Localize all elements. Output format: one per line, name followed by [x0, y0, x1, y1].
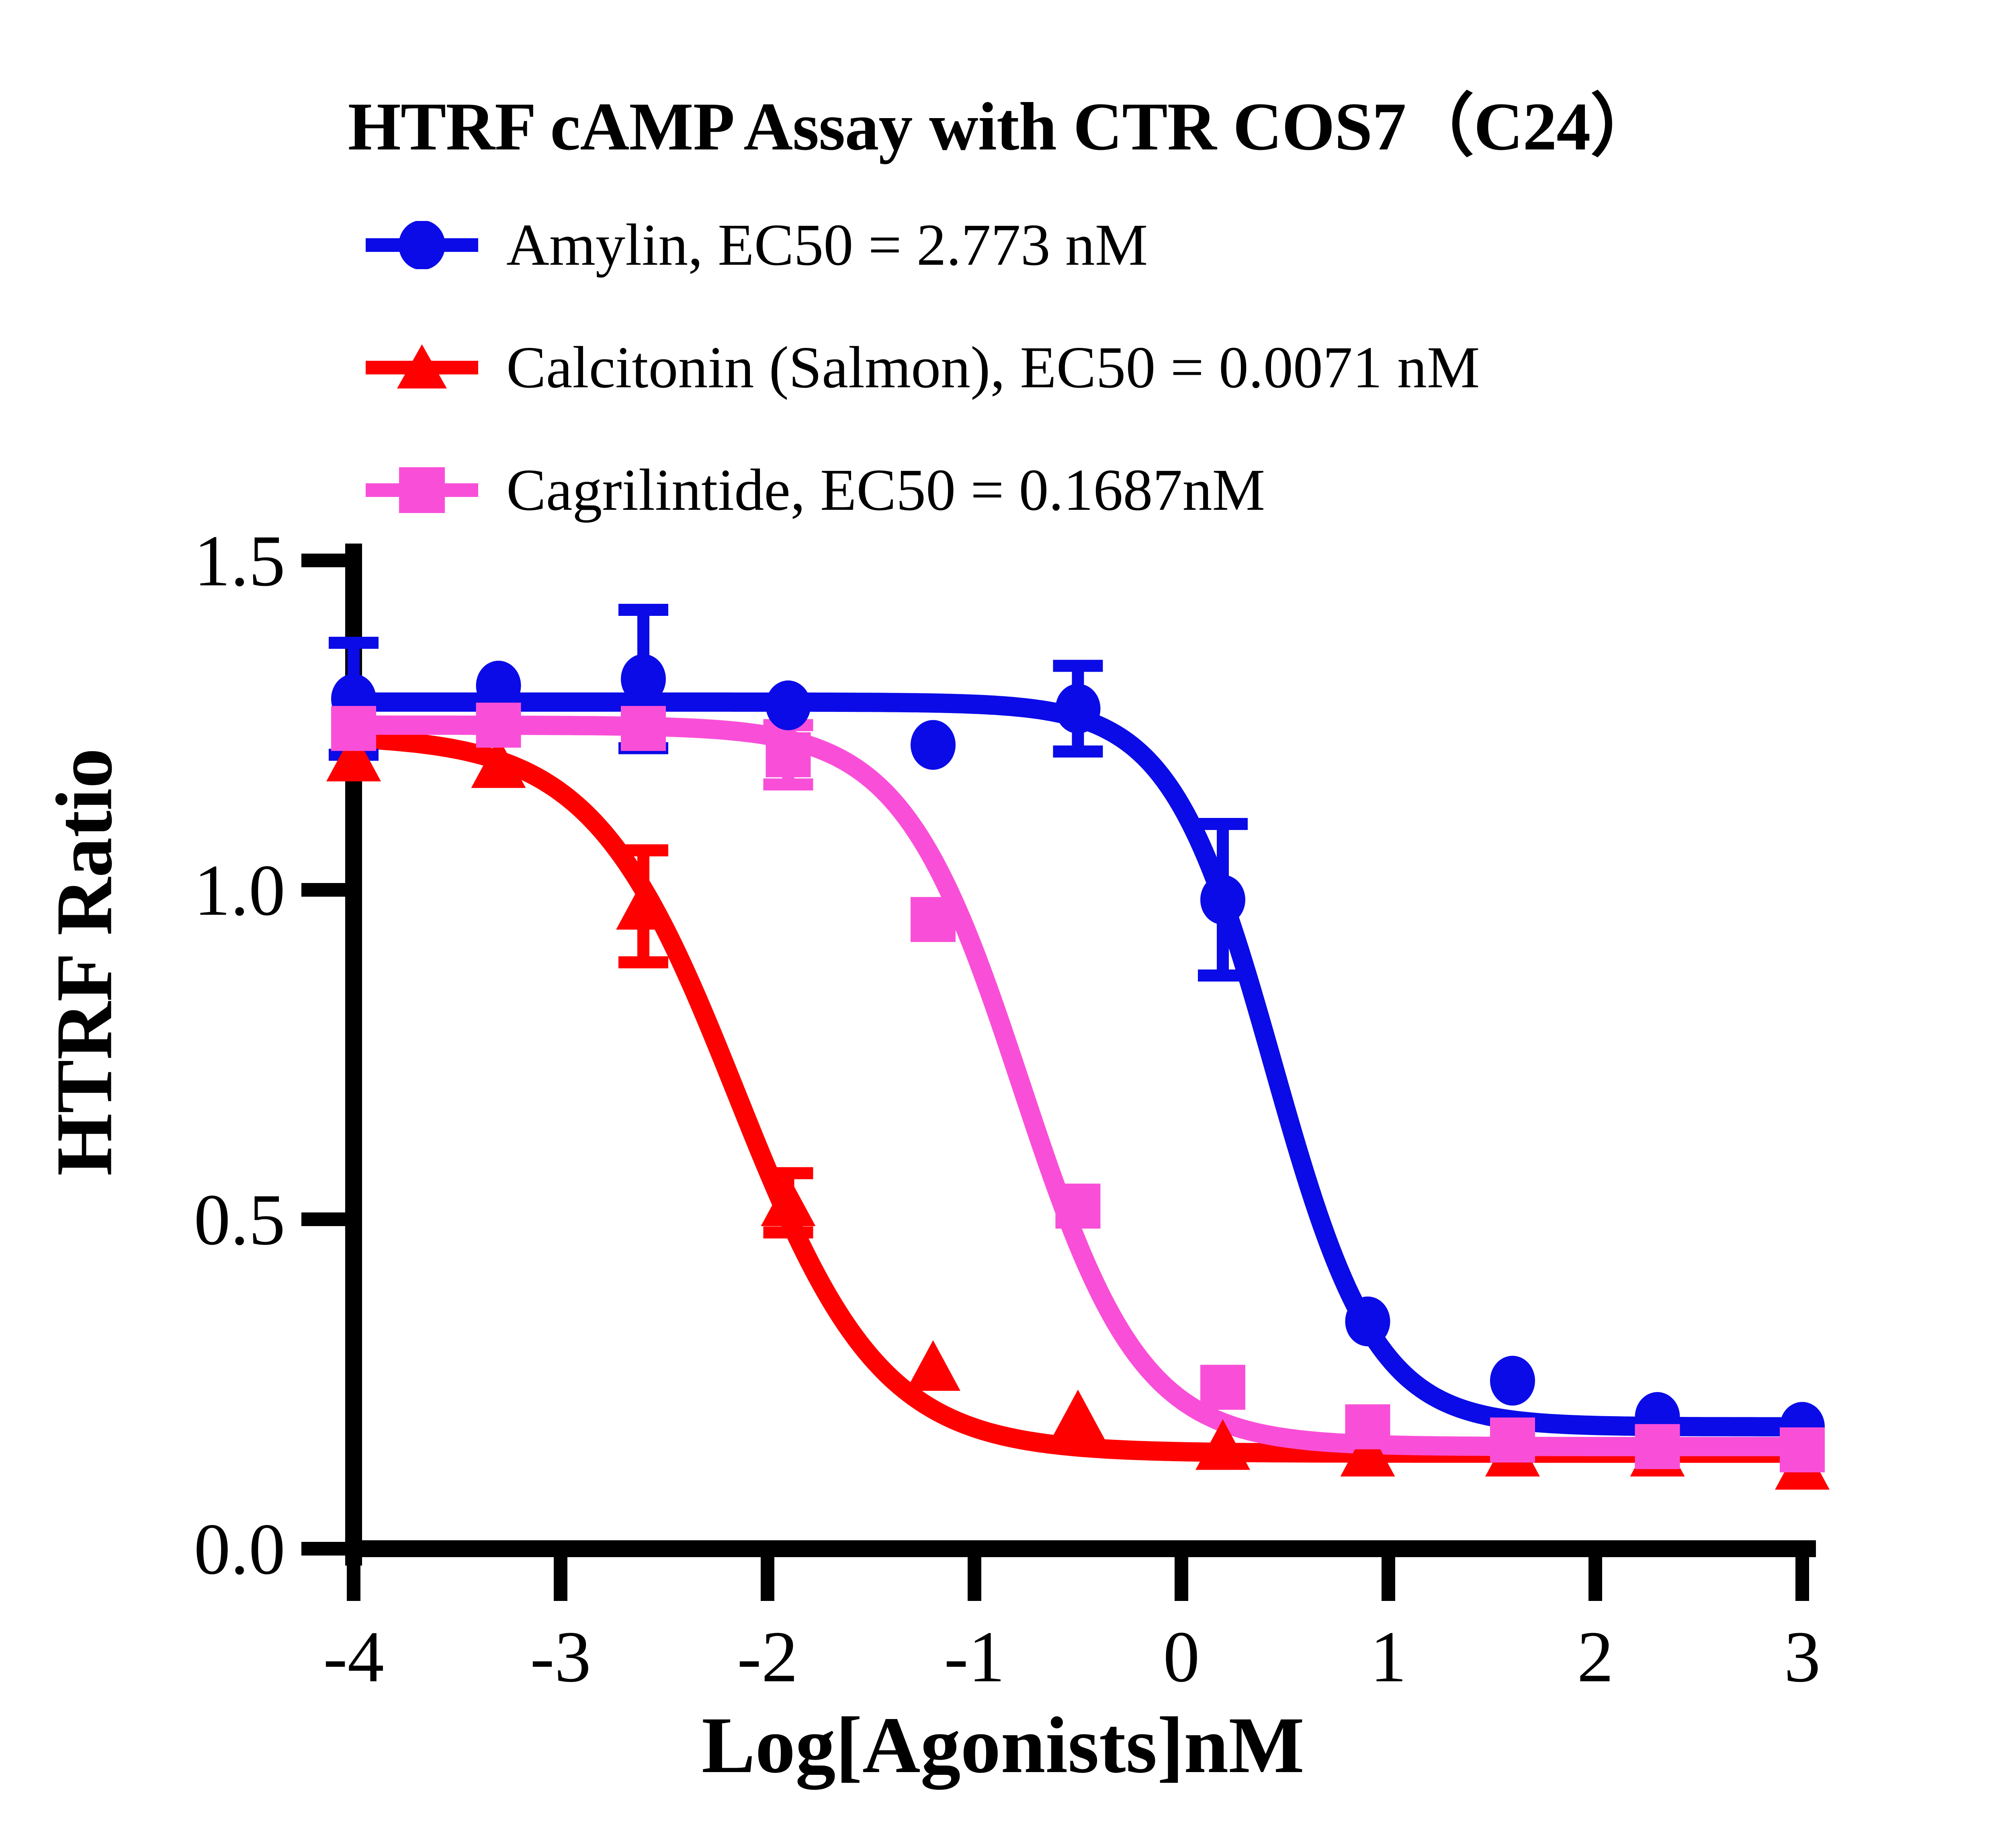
y-tick-label: 1.5	[194, 521, 286, 601]
data-point	[1490, 1356, 1535, 1406]
x-tick-label: 0	[1163, 1617, 1200, 1697]
x-tick-label: 1	[1370, 1617, 1407, 1697]
data-point	[1056, 684, 1101, 734]
data-point	[1635, 1424, 1680, 1469]
data-point	[766, 732, 811, 777]
data-point	[331, 706, 376, 751]
x-tick-label: 2	[1577, 1617, 1614, 1697]
data-point	[906, 1340, 960, 1391]
x-tick-label: -3	[530, 1617, 591, 1697]
data-point	[1780, 1427, 1825, 1472]
y-axis-label: HTRF Ratio	[39, 661, 131, 1263]
data-point	[621, 654, 666, 704]
curve-cagrilintide	[354, 725, 1802, 1447]
data-point	[1056, 1184, 1101, 1229]
data-point	[1345, 1296, 1390, 1346]
plot-area: 0.00.51.01.5-4-3-2-10123	[0, 0, 2006, 1848]
data-point	[1200, 875, 1245, 925]
data-point	[1490, 1417, 1535, 1462]
data-point	[1200, 1365, 1245, 1410]
data-point	[766, 681, 811, 730]
data-point	[1345, 1404, 1390, 1449]
data-point	[1051, 1390, 1105, 1440]
x-tick-label: -2	[737, 1617, 798, 1697]
y-tick-label: 0.0	[194, 1509, 286, 1590]
curve-calcitonin-salmon-	[354, 738, 1802, 1453]
data-point	[911, 720, 956, 770]
chart-page: HTRF cAMP Assay with CTR COS7（C24） Amyli…	[0, 0, 2006, 1848]
data-point	[621, 706, 666, 751]
data-point	[911, 897, 956, 942]
x-axis-label: Log[Agonists]nM	[0, 1699, 2006, 1791]
x-tick-label: -4	[323, 1617, 384, 1697]
y-tick-label: 1.0	[194, 850, 286, 931]
x-tick-label: -1	[944, 1617, 1005, 1697]
y-tick-label: 0.5	[194, 1180, 286, 1260]
data-point	[476, 703, 521, 748]
x-tick-label: 3	[1784, 1617, 1821, 1697]
